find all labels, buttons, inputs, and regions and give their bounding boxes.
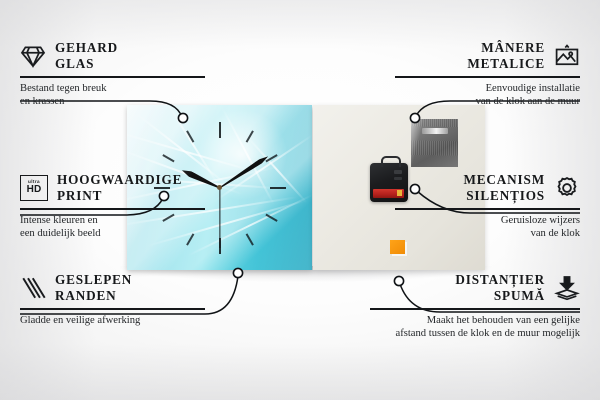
- metal-highlight: [422, 128, 448, 134]
- ultra-hd-icon: ultra HD: [20, 175, 48, 201]
- clock-tick: [219, 122, 221, 188]
- feature-desc: Gladde en veilige afwerking: [20, 314, 205, 327]
- feature-rule: [20, 208, 205, 210]
- orange-foam-spacer: [390, 240, 405, 254]
- feature-heading: ultra HD HOOGWAARDIGE PRINT: [20, 172, 205, 203]
- feature-distantier-spuma: DISTANȚIER SPUMĂ Maakt het behouden van …: [370, 272, 580, 340]
- feature-geslepen-randen: GESLEPEN RANDEN Gladde en veilige afwerk…: [20, 272, 205, 327]
- feature-desc: Maakt het behouden van een gelijke afsta…: [370, 314, 580, 340]
- hd-label: HD: [27, 185, 42, 195]
- feature-title: GEHARD GLAS: [55, 40, 118, 71]
- feature-heading: MECANISM SILENȚIOS: [395, 172, 580, 203]
- feature-gehard-glas: GEHARD GLAS Bestand tegen breuk en krass…: [20, 40, 205, 108]
- framed-picture-icon: [554, 43, 580, 69]
- arrow-onto-layers-icon: [554, 275, 580, 301]
- feature-title: GESLEPEN RANDEN: [55, 272, 132, 303]
- clock-tick: [220, 187, 286, 189]
- gear-icon: [554, 175, 580, 201]
- feature-title: MÂNERE METALICE: [467, 40, 545, 71]
- feature-rule: [20, 308, 205, 310]
- feature-desc: Eenvoudige installatie van de klok aan d…: [395, 82, 580, 108]
- feature-desc: Intense kleuren en een duidelijk beeld: [20, 214, 205, 240]
- feature-rule: [395, 76, 580, 78]
- feature-desc: Geruisloze wijzers van de klok: [395, 214, 580, 240]
- feature-title: MECANISM SILENȚIOS: [463, 172, 545, 203]
- second-hand: [219, 188, 220, 248]
- feature-rule: [370, 308, 580, 310]
- metal-hanger-swatch: [411, 119, 458, 167]
- feature-manere-metalice: MÂNERE METALICE Eenvoudige installatie v…: [395, 40, 580, 108]
- feature-desc: Bestand tegen breuk en krassen: [20, 82, 205, 108]
- mechanism-hanger-loop: [381, 156, 401, 167]
- feature-heading: DISTANȚIER SPUMĂ: [370, 272, 580, 303]
- hand-pin: [217, 185, 222, 190]
- feature-mecanism-silentios: MECANISM SILENȚIOS Geruisloze wijzers va…: [395, 172, 580, 240]
- feature-title: HOOGWAARDIGE PRINT: [57, 172, 182, 203]
- feature-heading: MÂNERE METALICE: [395, 40, 580, 71]
- feature-rule: [20, 76, 205, 78]
- feature-heading: GEHARD GLAS: [20, 40, 205, 71]
- feature-heading: GESLEPEN RANDEN: [20, 272, 205, 303]
- feature-hoogwaardige-print: ultra HD HOOGWAARDIGE PRINT Intense kleu…: [20, 172, 205, 240]
- feature-title: DISTANȚIER SPUMĂ: [455, 272, 545, 303]
- infographic-canvas: GEHARD GLAS Bestand tegen breuk en krass…: [0, 0, 600, 400]
- feature-rule: [395, 208, 580, 210]
- beveled-edges-icon: [20, 275, 46, 301]
- diamond-icon: [20, 43, 46, 69]
